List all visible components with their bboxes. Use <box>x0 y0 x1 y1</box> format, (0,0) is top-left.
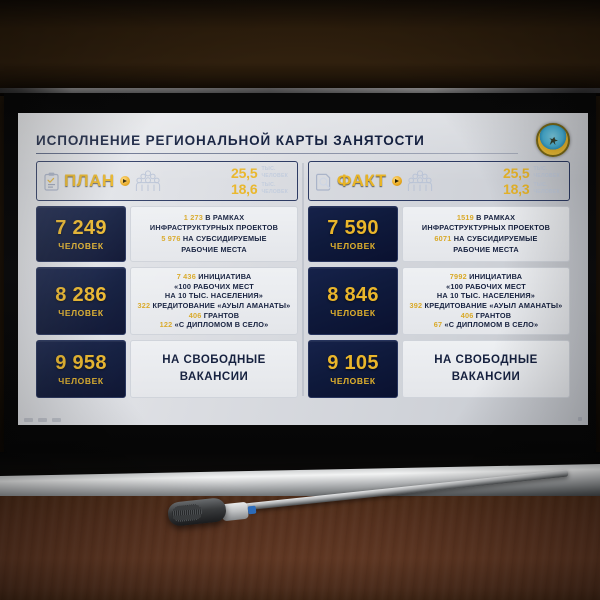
plan-row2-unit: ЧЕЛОВЕК <box>58 308 103 318</box>
fact-row1-number-cell: 7 590 ЧЕЛОВЕК <box>308 206 398 262</box>
plan-label: ПЛАН <box>64 171 115 191</box>
vacancy-line: ВАКАНСИИ <box>180 369 249 386</box>
fact-row3-number-cell: 9 105 ЧЕЛОВЕК <box>308 340 398 398</box>
desc-text: РАБОЧИЕ МЕСТА <box>453 245 519 254</box>
columns-container: ПЛАН <box>36 161 570 398</box>
unit-line-2: человек <box>533 173 560 179</box>
desc-text: ИНФРАСТРУКТУРНЫХ ПРОЕКТОВ <box>422 223 550 232</box>
clipboard-icon <box>44 172 59 191</box>
plan-figure-2-value: 18,6 <box>231 182 257 196</box>
plan-figure-1: 25,5 тыс. человек <box>231 166 288 180</box>
accent-number: 392 <box>410 301 423 310</box>
desc-text: КРЕДИТОВАНИЕ «АУЫЛ АМАНАТЫ» <box>153 301 291 310</box>
plan-row2-number-cell: 8 286 ЧЕЛОВЕК <box>36 267 126 335</box>
background-wall <box>0 0 600 96</box>
photo-scene: ИСПОЛНЕНИЕ РЕГИОНАЛЬНОЙ КАРТЫ ЗАНЯТОСТИ <box>0 0 600 600</box>
page-title: ИСПОЛНЕНИЕ РЕГИОНАЛЬНОЙ КАРТЫ ЗАНЯТОСТИ <box>36 133 425 148</box>
desc-line: РАБОЧИЕ МЕСТА <box>181 245 247 256</box>
desc-text: «100 РАБОЧИХ МЕСТ <box>446 282 526 291</box>
fact-label: ФАКТ <box>337 171 387 191</box>
desc-line: ИНФРАСТРУКТУРНЫХ ПРОЕКТОВ <box>422 223 550 234</box>
display-screen: ИСПОЛНЕНИЕ РЕГИОНАЛЬНОЙ КАРТЫ ЗАНЯТОСТИ <box>18 113 588 425</box>
document-search-icon <box>316 172 332 191</box>
fact-row2-number: 8 846 <box>327 284 379 307</box>
desc-text: «С ДИПЛОМОМ В СЕЛО» <box>175 320 269 329</box>
accent-number: 322 <box>138 301 151 310</box>
desc-line: ИНФРАСТРУКТУРНЫХ ПРОЕКТОВ <box>150 223 278 234</box>
unit-line-2: человек <box>261 189 288 195</box>
fact-figure-1-unit: тыс. человек <box>533 166 560 180</box>
desc-text: КРЕДИТОВАНИЕ «АУЫЛ АМАНАТЫ» <box>425 301 563 310</box>
title-divider <box>36 153 518 154</box>
plan-row3-unit: ЧЕЛОВЕК <box>58 376 103 386</box>
plan-figure-1-unit: тыс. человек <box>261 166 288 180</box>
desc-text: РАБОЧИЕ МЕСТА <box>181 245 247 254</box>
desc-text: ИНИЦИАТИВА <box>469 272 522 281</box>
accent-number: 7992 <box>450 272 467 281</box>
plan-row1-unit: ЧЕЛОВЕК <box>58 241 103 251</box>
fact-figure-2-value: 18,3 <box>503 182 529 196</box>
plan-figures: 25,5 тыс. человек 18,6 тыс. <box>231 166 290 196</box>
fact-figure-1-value: 25,5 <box>503 166 529 180</box>
table-row: 9 105 ЧЕЛОВЕК НА СВОБОДНЫЕ ВАКАНСИИ <box>308 340 570 398</box>
desc-line: 7 436 ИНИЦИАТИВА <box>177 272 252 282</box>
plan-row1-number: 7 249 <box>55 217 107 240</box>
vacancy-line: НА СВОБОДНЫЕ <box>162 352 266 369</box>
desc-line: 1 273 В РАМКАХ <box>184 213 245 224</box>
plan-row3-description: НА СВОБОДНЫЕ ВАКАНСИИ <box>130 340 298 398</box>
presentation-slide: ИСПОЛНЕНИЕ РЕГИОНАЛЬНОЙ КАРТЫ ЗАНЯТОСТИ <box>18 113 588 425</box>
table-row: 7 590 ЧЕЛОВЕК 1519 В РАМКАХ ИНФРАСТРУКТУ… <box>308 206 570 262</box>
desc-text: НА 10 ТЫС. НАСЕЛЕНИЯ» <box>437 291 535 300</box>
accent-number: 67 <box>434 320 443 329</box>
display-monitor: ИСПОЛНЕНИЕ РЕГИОНАЛЬНОЙ КАРТЫ ЗАНЯТОСТИ <box>4 93 596 452</box>
desc-line: 322 КРЕДИТОВАНИЕ «АУЫЛ АМАНАТЫ» <box>138 301 291 311</box>
desc-line: 5 976 НА СУБСИДИРУЕМЫЕ <box>161 234 266 245</box>
desc-line: 392 КРЕДИТОВАНИЕ «АУЫЛ АМАНАТЫ» <box>410 301 563 311</box>
accent-number: 1 273 <box>184 213 203 222</box>
people-group-icon <box>407 170 433 192</box>
fact-row1-number: 7 590 <box>327 217 379 240</box>
fact-figure-2: 18,3 тыс. человек <box>503 182 560 196</box>
wooden-desk <box>0 496 600 600</box>
desc-line: РАБОЧИЕ МЕСТА <box>453 245 519 256</box>
desc-text: «С ДИПЛОМОМ В СЕЛО» <box>444 320 538 329</box>
fact-row3-number: 9 105 <box>327 352 379 375</box>
plan-row2-number: 8 286 <box>55 284 107 307</box>
fact-row3-unit: ЧЕЛОВЕК <box>330 376 375 386</box>
desc-text: ГРАНТОВ <box>476 311 512 320</box>
desc-text: «100 РАБОЧИХ МЕСТ <box>174 282 254 291</box>
desc-line: НА 10 ТЫС. НАСЕЛЕНИЯ» <box>437 291 535 301</box>
fact-row2-description: 7992 ИНИЦИАТИВА «100 РАБОЧИХ МЕСТ НА 10 … <box>402 267 570 335</box>
plan-header-bar: ПЛАН <box>36 161 298 201</box>
desc-text: НА СУБСИДИРУЕМЫЕ <box>183 234 267 243</box>
desc-line: 7992 ИНИЦИАТИВА <box>450 272 522 282</box>
play-dot-icon <box>392 176 402 186</box>
desc-line: 406 ГРАНТОВ <box>461 311 512 321</box>
accent-number: 5 976 <box>161 234 180 243</box>
plan-figure-2-unit: тыс. человек <box>261 182 288 196</box>
slide-header: ИСПОЛНЕНИЕ РЕГИОНАЛЬНОЙ КАРТЫ ЗАНЯТОСТИ <box>36 127 570 153</box>
unit-line-2: человек <box>261 173 288 179</box>
accent-number: 406 <box>461 311 474 320</box>
unit-line-1: тыс. <box>261 166 275 172</box>
regional-coat-of-arms-icon <box>536 123 570 157</box>
screen-artifact-right <box>578 417 582 421</box>
fact-figures: 25,5 тыс. человек 18,3 тыс. <box>503 166 562 196</box>
table-row: 8 846 ЧЕЛОВЕК 7992 ИНИЦИАТИВА «100 РАБОЧ… <box>308 267 570 335</box>
plan-row1-number-cell: 7 249 ЧЕЛОВЕК <box>36 206 126 262</box>
desc-line: 122 «С ДИПЛОМОМ В СЕЛО» <box>160 320 269 330</box>
table-row: 9 958 ЧЕЛОВЕК НА СВОБОДНЫЕ ВАКАНСИИ <box>36 340 298 398</box>
desc-line: 67 «С ДИПЛОМОМ В СЕЛО» <box>434 320 539 330</box>
people-group-icon <box>135 170 161 192</box>
column-plan: ПЛАН <box>36 161 298 398</box>
fact-figure-2-unit: тыс. человек <box>533 182 560 196</box>
desc-line: «100 РАБОЧИХ МЕСТ <box>174 282 254 292</box>
microphone-indicator <box>248 506 257 515</box>
plan-row3-number-cell: 9 958 ЧЕЛОВЕК <box>36 340 126 398</box>
desc-text: ИНФРАСТРУКТУРНЫХ ПРОЕКТОВ <box>150 223 278 232</box>
unit-line-1: тыс. <box>261 182 275 188</box>
vacancy-line: ВАКАНСИИ <box>452 369 521 386</box>
accent-number: 122 <box>160 320 173 329</box>
desc-text: В РАМКАХ <box>476 213 515 222</box>
desc-line: 6071 НА СУБСИДИРУЕМЫЕ <box>434 234 537 245</box>
desc-text: НА СУБСИДИРУЕМЫЕ <box>454 234 538 243</box>
desc-text: В РАМКАХ <box>205 213 244 222</box>
plan-row3-number: 9 958 <box>55 352 107 375</box>
accent-number: 406 <box>189 311 202 320</box>
accent-number: 1519 <box>457 213 474 222</box>
plan-figure-2: 18,6 тыс. человек <box>231 182 288 196</box>
fact-figure-1: 25,5 тыс. человек <box>503 166 560 180</box>
fact-row2-number-cell: 8 846 ЧЕЛОВЕК <box>308 267 398 335</box>
column-fact: ФАКТ <box>308 161 570 398</box>
desc-line: НА 10 ТЫС. НАСЕЛЕНИЯ» <box>165 291 263 301</box>
desc-text: ИНИЦИАТИВА <box>198 272 251 281</box>
plan-row2-description: 7 436 ИНИЦИАТИВА «100 РАБОЧИХ МЕСТ НА 10… <box>130 267 298 335</box>
accent-number: 7 436 <box>177 272 196 281</box>
fact-row3-description: НА СВОБОДНЫЕ ВАКАНСИИ <box>402 340 570 398</box>
column-divider <box>303 163 304 396</box>
desc-text: ГРАНТОВ <box>204 311 240 320</box>
unit-line-1: тыс. <box>533 166 547 172</box>
fact-row1-description: 1519 В РАМКАХ ИНФРАСТРУКТУРНЫХ ПРОЕКТОВ … <box>402 206 570 262</box>
table-row: 8 286 ЧЕЛОВЕК 7 436 ИНИЦИАТИВА «100 РАБО… <box>36 267 298 335</box>
desc-line: 406 ГРАНТОВ <box>189 311 240 321</box>
unit-line-2: человек <box>533 189 560 195</box>
desc-line: «100 РАБОЧИХ МЕСТ <box>446 282 526 292</box>
play-dot-icon <box>120 176 130 186</box>
fact-row1-unit: ЧЕЛОВЕК <box>330 241 375 251</box>
plan-row1-description: 1 273 В РАМКАХ ИНФРАСТРУКТУРНЫХ ПРОЕКТОВ… <box>130 206 298 262</box>
table-row: 7 249 ЧЕЛОВЕК 1 273 В РАМКАХ ИНФРАСТРУКТ… <box>36 206 298 262</box>
plan-figure-1-value: 25,5 <box>231 166 257 180</box>
fact-row2-unit: ЧЕЛОВЕК <box>330 308 375 318</box>
desc-line: 1519 В РАМКАХ <box>457 213 515 224</box>
unit-line-1: тыс. <box>533 182 547 188</box>
desc-text: НА 10 ТЫС. НАСЕЛЕНИЯ» <box>165 291 263 300</box>
vacancy-line: НА СВОБОДНЫЕ <box>434 352 538 369</box>
screen-artifacts <box>24 418 61 422</box>
accent-number: 6071 <box>434 234 451 243</box>
fact-header-bar: ФАКТ <box>308 161 570 201</box>
